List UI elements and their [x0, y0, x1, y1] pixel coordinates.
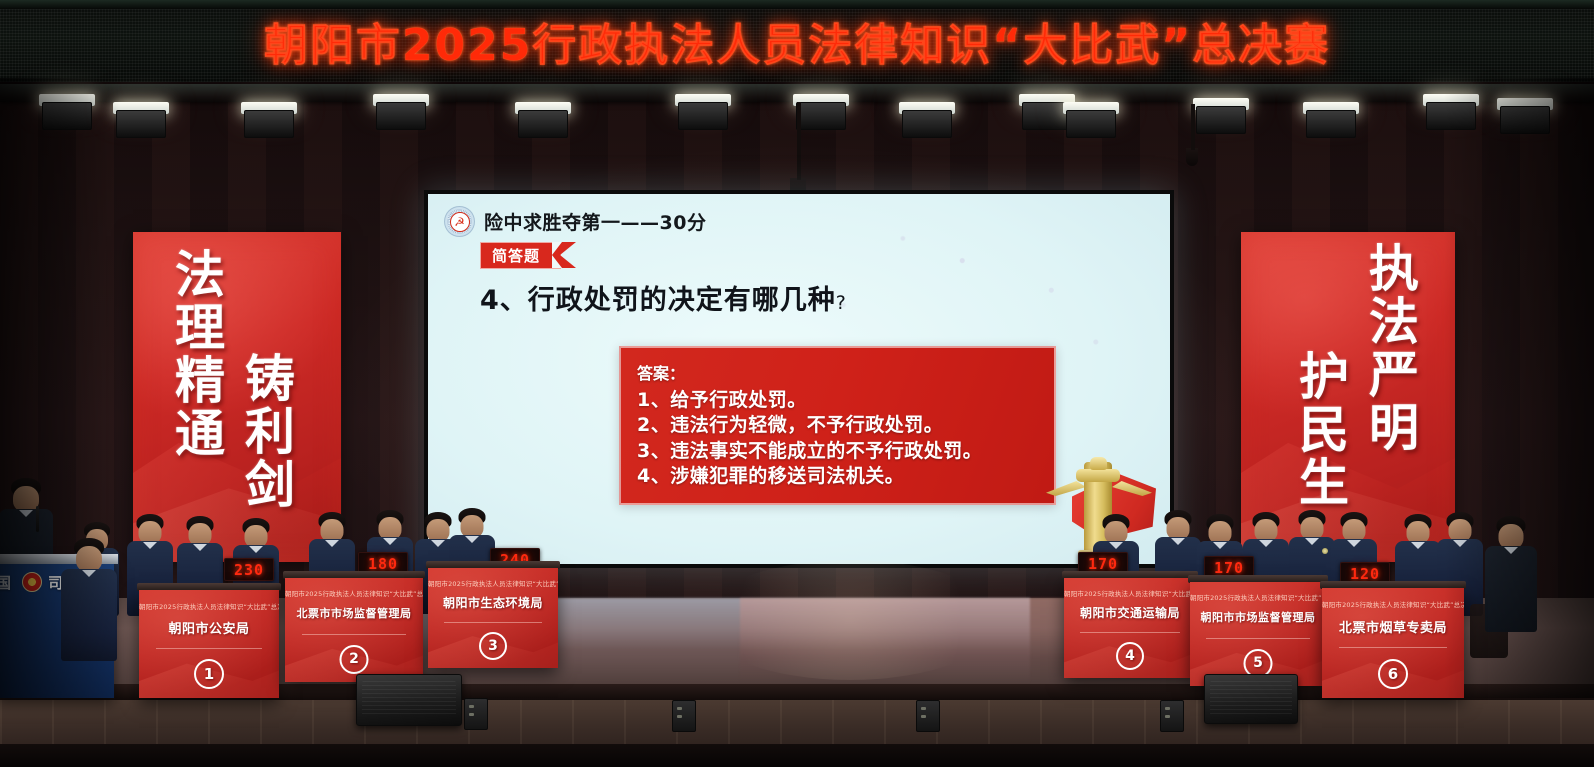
- podium-face: 朝阳市2025行政执法人员法律知识“大比武”总决赛 北票市市场监督管理局 2: [285, 578, 423, 682]
- question-type-tag: 简答题: [480, 242, 561, 269]
- slide-header: ☭ 险中求胜夺第一——30分: [444, 206, 706, 237]
- podium-divider: [1206, 638, 1309, 639]
- answer-item: 4、涉嫌犯罪的移送司法机关。: [637, 464, 1040, 489]
- banner-left-char: 铸: [245, 354, 296, 405]
- party-emblem-icon: ☭: [444, 206, 475, 237]
- led-banner: 朝阳市2025行政执法人员法律知识“大比武”总决赛: [0, 0, 1594, 82]
- banner-left-char: 利: [245, 407, 296, 458]
- podium-face: 朝阳市2025行政执法人员法律知识“大比武”总决赛 朝阳市公安局 1: [139, 590, 279, 698]
- floor-box: [672, 700, 696, 732]
- banner-left-char: 法: [175, 250, 226, 301]
- stage-light-icon: [512, 100, 574, 142]
- fixture-hanger: [1191, 104, 1195, 150]
- banner-left-char: 剑: [245, 460, 296, 511]
- score-value: 170: [1214, 559, 1244, 577]
- podium-divider: [156, 648, 262, 649]
- podium-number: 4: [1116, 642, 1144, 670]
- slide-surface: ☭ 险中求胜夺第一——30分 简答题 4、行政处罚的决定有哪几种? 答案： 1、…: [428, 194, 1170, 564]
- podium-5[interactable]: 朝阳市2025行政执法人员法律知识“大比武”总决赛 朝阳市市场监督管理局 5: [1190, 582, 1326, 686]
- banner-right-column-2: 护 民 生: [1299, 352, 1350, 511]
- hammer-sickle-icon: ☭: [450, 212, 470, 232]
- podium-org-name: 朝阳市公安局: [139, 618, 279, 637]
- banner-right-char: 护: [1299, 352, 1350, 403]
- stage-light-icon: [238, 100, 300, 142]
- answer-title: 答案：: [637, 360, 1040, 384]
- banner-right-char: 生: [1299, 458, 1350, 509]
- banner-right-char: 严: [1369, 350, 1420, 401]
- stage-monitor-speaker: [1204, 674, 1298, 724]
- column-cap: [1076, 469, 1120, 482]
- stage-light-icon: [1300, 100, 1362, 142]
- podium-3[interactable]: 朝阳市2025行政执法人员法律知识“大比武”总决赛 朝阳市生态环境局 3: [428, 568, 558, 668]
- led-banner-title: 朝阳市2025行政执法人员法律知识“大比武”总决赛: [264, 9, 1330, 73]
- answer-item: 1、给予行政处罚。: [637, 388, 1040, 413]
- stage-scene: 朝阳市2025行政执法人员法律知识“大比武”总决赛 法 理 精 通 铸 利 剑: [0, 0, 1594, 767]
- speaker-hanger: [797, 102, 801, 180]
- banner-left-column-1: 法 理 精 通: [175, 250, 226, 462]
- question-body: 4、行政处罚的决定有哪几种: [480, 285, 836, 316]
- left-edge-shadow: [0, 78, 120, 698]
- podium-subtitle: 朝阳市2025行政执法人员法律知识“大比武”总决赛: [285, 588, 423, 598]
- banner-right-char: 民: [1299, 405, 1350, 456]
- column-beast: [1090, 457, 1107, 470]
- banner-left-char: 通: [175, 409, 226, 460]
- score-value: 180: [368, 555, 398, 573]
- floor-box: [916, 700, 940, 732]
- podium-org-name: 朝阳市生态环境局: [428, 594, 558, 611]
- podium-1[interactable]: 朝阳市2025行政执法人员法律知识“大比武”总决赛 朝阳市公安局 1: [139, 590, 279, 698]
- floor-box: [464, 698, 488, 730]
- audience-seat-row: [0, 744, 1594, 767]
- score-value: 170: [1088, 555, 1118, 573]
- slide-header-text: 险中求胜夺第一——30分: [484, 208, 706, 235]
- stage-light-icon: [1060, 100, 1122, 142]
- stage-light-icon: [896, 100, 958, 142]
- podium-number: 6: [1378, 659, 1408, 689]
- podium-divider: [1339, 647, 1447, 648]
- podium-divider: [1080, 632, 1180, 633]
- podium-4[interactable]: 朝阳市2025行政执法人员法律知识“大比武”总决赛 朝阳市交通运输局 4: [1064, 578, 1196, 678]
- podium-org-name: 朝阳市市场监督管理局: [1190, 609, 1326, 625]
- podium-number: 1: [194, 659, 224, 689]
- banner-right-char: 执: [1369, 244, 1420, 295]
- question-type-label: 简答题: [492, 245, 540, 266]
- stage-monitor-speaker: [356, 674, 462, 726]
- podium-org-name: 北票市市场监督管理局: [285, 605, 423, 621]
- banner-right-column-1: 执 法 严 明: [1369, 244, 1420, 456]
- podium-2[interactable]: 朝阳市2025行政执法人员法律知识“大比武”总决赛 北票市市场监督管理局 2: [285, 578, 423, 682]
- stage-light-icon: [1190, 96, 1252, 138]
- ceiling-edge: [0, 0, 1594, 9]
- score-value: 120: [1350, 565, 1380, 583]
- floor-box: [1160, 700, 1184, 732]
- banner-left: 法 理 精 通 铸 利 剑: [133, 232, 341, 562]
- answer-box: 答案： 1、给予行政处罚。 2、违法行为轻微，不予行政处罚。 3、违法事实不能成…: [619, 346, 1056, 505]
- answer-item: 3、违法事实不能成立的不予行政处罚。: [637, 439, 1040, 464]
- question-mark: ?: [836, 292, 847, 314]
- projection-screen: ☭ 险中求胜夺第一——30分 简答题 4、行政处罚的决定有哪几种? 答案： 1、…: [424, 190, 1174, 568]
- podium-org-name: 北票市烟草专卖局: [1322, 617, 1464, 636]
- podium-divider: [444, 622, 543, 623]
- podium-6[interactable]: 朝阳市2025行政执法人员法律知识“大比武”总决赛 北票市烟草专卖局 6: [1322, 588, 1464, 698]
- podium-face: 朝阳市2025行政执法人员法律知识“大比武”总决赛 朝阳市市场监督管理局 5: [1190, 582, 1326, 686]
- podium-face: 朝阳市2025行政执法人员法律知识“大比武”总决赛 朝阳市交通运输局 4: [1064, 578, 1196, 678]
- hanging-fixture-icon: [1186, 148, 1198, 166]
- podium-subtitle: 朝阳市2025行政执法人员法律知识“大比武”总决赛: [428, 578, 558, 588]
- stage-light-icon: [672, 92, 734, 134]
- podium-face: 朝阳市2025行政执法人员法律知识“大比武”总决赛 北票市烟草专卖局 6: [1322, 588, 1464, 698]
- right-edge-shadow: [1444, 78, 1594, 698]
- podium-subtitle: 朝阳市2025行政执法人员法律知识“大比武”总决赛: [1064, 588, 1196, 598]
- score-display-1: 230: [224, 558, 274, 581]
- podium-subtitle: 朝阳市2025行政执法人员法律知识“大比武”总决赛: [1322, 599, 1464, 609]
- answer-item: 2、违法行为轻微，不予行政处罚。: [637, 413, 1040, 438]
- banner-right-char: 明: [1369, 403, 1420, 454]
- stage-light-icon: [370, 92, 432, 134]
- podium-divider: [302, 634, 407, 635]
- banner-left-char: 精: [175, 356, 226, 407]
- banner-left-column-2: 铸 利 剑: [245, 354, 296, 513]
- podium-subtitle: 朝阳市2025行政执法人员法律知识“大比武”总决赛: [139, 601, 279, 611]
- banner-right-char: 法: [1369, 297, 1420, 348]
- podium-number: 2: [340, 645, 369, 674]
- question-text: 4、行政处罚的决定有哪几种?: [480, 278, 847, 317]
- podium-face: 朝阳市2025行政执法人员法律知识“大比武”总决赛 朝阳市生态环境局 3: [428, 568, 558, 668]
- podium-org-name: 朝阳市交通运输局: [1064, 604, 1196, 621]
- score-value: 230: [234, 561, 264, 579]
- podium-number: 3: [479, 632, 507, 660]
- banner-left-char: 理: [175, 303, 226, 354]
- podium-subtitle: 朝阳市2025行政执法人员法律知识“大比武”总决赛: [1190, 592, 1326, 602]
